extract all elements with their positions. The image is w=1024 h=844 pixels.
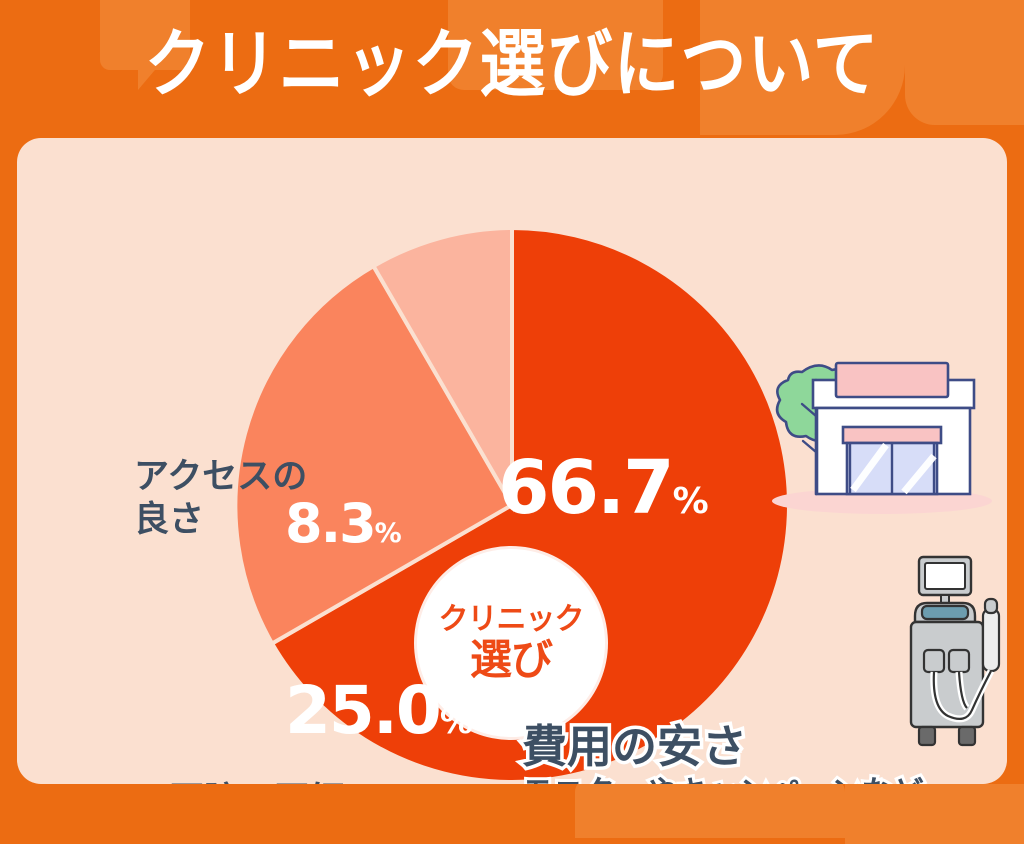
slice-value-record-number: 25.0 [285,672,440,749]
building-body [813,363,974,494]
category-label-cost: 費用の安さ モニターやキャンペーンなど [522,722,923,784]
slice-value-cost-percent: % [673,481,709,522]
device-monitor [919,557,971,603]
page-title: クリニック選びについて [144,28,879,102]
category-label-cost-main: 費用の安さ [522,722,923,772]
header-banner: クリニック選びについて [0,28,1024,94]
slice-value-cost-number: 66.7 [498,445,673,531]
handpiece-port-left [924,650,944,672]
category-label-record: 医院・医師の 実績の豊富さを重視 [79,780,469,784]
donut-center-line1: クリニック [439,604,584,636]
slice-value-cost: 66.7% [498,451,709,525]
clinic-building-illustration [754,344,1004,514]
donut-center-line2: 選び [470,638,552,682]
device-wheels [919,727,975,745]
content-card: クリニック 選び 66.7% 25.0% 8.3% アクセスの 良さ 医院・医師… [17,138,1007,784]
slice-value-record: 25.0% [285,678,473,744]
deco-block-bottom [575,778,845,838]
category-label-cost-sub: モニターやキャンペーンなど [522,776,923,785]
deco-block-bottom-right [845,784,1024,844]
laser-machine-illustration [897,553,1007,758]
slice-value-record-percent: % [440,702,473,741]
signboard [836,363,948,397]
handpiece-port-right [949,650,969,672]
device-handpiece [983,599,999,671]
slice-value-access-percent: % [375,518,402,549]
device-panel [922,606,968,619]
category-label-access: アクセスの 良さ [134,456,307,543]
door-awning [843,427,941,443]
